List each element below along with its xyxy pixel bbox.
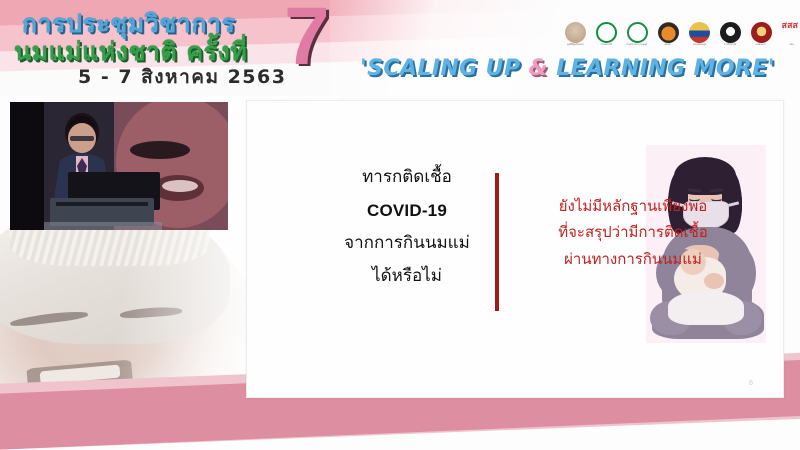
logo-caption: ราชวิทยาลัย xyxy=(724,44,736,47)
logo-mark-icon xyxy=(565,22,586,43)
logo-caption: สปสช. xyxy=(665,44,672,47)
logo-black-emblem: ราชวิทยาลัย xyxy=(717,22,743,47)
tagline-pre: 'SCALING UP xyxy=(360,56,529,81)
logo-thai-royal-emblem: มูลนิธิศูนย์นมแม่ xyxy=(562,22,588,47)
logo-mark-icon xyxy=(627,22,648,43)
edition-number: 7 xyxy=(284,0,330,78)
answer-line-2: ที่จะสรุปว่ามีการติดเชื้อ xyxy=(509,219,757,245)
logo-ministry-public-health-green: กรมอนามัย xyxy=(593,22,619,47)
logo-sss: สสสสสส. xyxy=(779,22,800,47)
logo-sss-text: สสส xyxy=(782,22,800,43)
question-line-2: COVID-19 xyxy=(317,194,497,227)
answer-line-3: ผ่านทางการกินนมแม่ xyxy=(509,246,757,272)
logo-caption: กรมสนับสนุน xyxy=(692,44,705,47)
sponsor-logos: มูลนิธิศูนย์นมแม่ กรมอนามัย กระทรวงสาธาร… xyxy=(562,22,800,47)
conference-tagline: 'SCALING UP & LEARNING MORE' xyxy=(360,56,775,81)
question-line-4: ได้หรือไม่ xyxy=(317,260,497,293)
mother-hand xyxy=(704,273,724,289)
slide-number: 6 xyxy=(749,380,753,387)
logo-health-department-green: กระทรวงสาธารณสุข xyxy=(624,22,650,47)
header-white-overlay xyxy=(330,0,800,96)
logo-caption: สสส. xyxy=(789,44,794,47)
logo-red-crest: แพทยสภา xyxy=(748,22,774,47)
logo-mark-icon xyxy=(596,22,617,43)
conference-header: 7 การประชุมวิชาการ นมแม่แห่งชาติ ครั้งที… xyxy=(0,0,800,96)
logo-thai-crest-blue: กรมสนับสนุน xyxy=(686,22,712,47)
answer-line-1: ยังไม่มีหลักฐานเพียงพอ xyxy=(509,193,757,219)
slide-panel: ทารกติดเชื้อ COVID-19 จากการกินนมแม่ ได้… xyxy=(246,100,784,398)
logo-caption: มูลนิธิศูนย์นมแม่ xyxy=(567,44,584,47)
logo-orange-wheel: สปสช. xyxy=(655,22,681,47)
speaker-video-thumbnail[interactable] xyxy=(10,102,228,230)
tagline-ampersand: & xyxy=(529,56,549,81)
logo-mark-icon xyxy=(720,22,741,43)
logo-caption: กรมอนามัย xyxy=(600,44,611,47)
logo-mark-icon xyxy=(658,22,679,43)
logo-mark-icon xyxy=(689,22,710,43)
question-block: ทารกติดเชื้อ COVID-19 จากการกินนมแม่ ได้… xyxy=(317,161,497,294)
question-line-3: จากการกินนมแม่ xyxy=(317,227,497,260)
presentation-screen: 7 การประชุมวิชาการ นมแม่แห่งชาติ ครั้งที… xyxy=(0,0,800,450)
vertical-divider xyxy=(495,173,499,311)
conference-date: 5 - 7 สิงหาคม 2563 xyxy=(78,62,286,92)
answer-block: ยังไม่มีหลักฐานเพียงพอ ที่จะสรุปว่ามีการ… xyxy=(509,193,757,272)
baby-blanket xyxy=(668,291,744,325)
logo-caption: แพทยสภา xyxy=(756,44,766,47)
question-line-1: ทารกติดเชื้อ xyxy=(317,161,497,194)
tagline-post: LEARNING MORE' xyxy=(548,56,775,81)
logo-mark-icon xyxy=(751,22,772,43)
logo-caption: กระทรวงสาธารณสุข xyxy=(626,44,647,47)
